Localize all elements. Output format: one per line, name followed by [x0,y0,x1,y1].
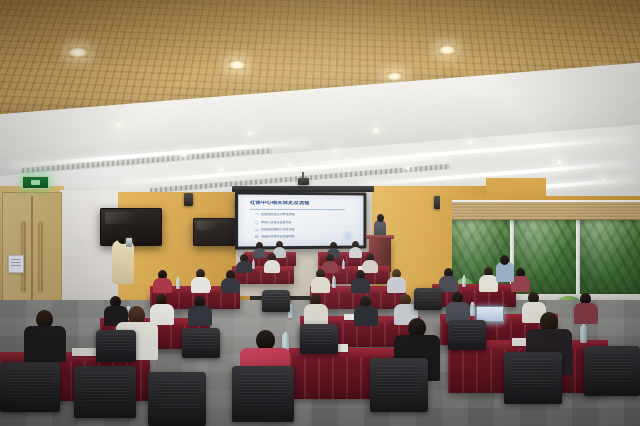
water-bottle [252,261,255,269]
presenter-head [377,214,384,222]
office-chair[interactable] [0,362,60,412]
water-bottle [470,304,475,316]
conference-room-photo: 社保中心相关规定及流程 一、社会保险登记与参保办理 二、参保人员信息变更申报 三… [0,0,640,426]
water-bottle [580,326,587,343]
office-chair[interactable] [262,290,290,312]
slide-divider [250,209,345,210]
office-chair[interactable] [414,288,442,310]
office-chair[interactable] [96,330,136,362]
attendee-body [24,326,66,362]
attendee-body [496,262,514,282]
ceiling-downlight [556,160,563,165]
door-seam [31,196,33,312]
attendee-body [387,277,406,293]
wall-tv-center [193,218,237,246]
attendee-body [311,277,330,293]
office-chair[interactable] [300,324,338,354]
projection-screen: 社保中心相关规定及流程 一、社会保险登记与参保办理 二、参保人员信息变更申报 三… [235,191,366,249]
attendee-body [362,260,378,273]
attendee-body [354,306,378,326]
door-handle[interactable] [39,222,42,292]
ceiling-downlight [68,47,88,58]
ceiling-downlight [372,128,380,133]
water-bottle [342,261,345,269]
office-chair[interactable] [74,366,136,418]
office-chair[interactable] [448,320,486,350]
attendee-body [236,261,252,273]
attendee-body [191,277,210,293]
attendee-body [153,278,172,293]
exit-sign-icon [22,176,49,189]
office-chair[interactable] [232,366,294,422]
slide-title: 社保中心相关规定及流程 [250,201,354,207]
roller-blind[interactable] [452,202,640,220]
presentation-slide: 社保中心相关规定及流程 一、社会保险登记与参保办理 二、参保人员信息变更申报 三… [238,194,363,246]
attendee-body [221,278,240,293]
ceiling-downlight [438,45,456,55]
attendee-head [500,255,509,265]
office-chair[interactable] [182,328,220,358]
door-notice-card [8,255,24,273]
attendee-body [188,306,212,326]
slide-bullet: 二、参保人员信息变更申报 [255,221,354,224]
ceiling-downlight [286,163,293,167]
office-chair[interactable] [148,372,206,426]
ceiling-downlight [180,152,188,157]
attendee-body [304,304,328,325]
ceiling-downlight [246,131,254,136]
office-chair[interactable] [584,346,640,396]
attendee-body [349,247,362,258]
ceiling-downlight [114,122,123,128]
ceiling-downlight [218,167,225,172]
ceiling-downlight [332,148,339,153]
attendee-body [574,303,598,324]
attendee-body [439,276,458,292]
ceiling-downlight [404,166,411,170]
wall-speaker [184,193,193,206]
ceiling-downlight [228,60,246,70]
ceiling-downlight [600,178,607,182]
water-bottle [462,277,466,287]
ceiling-downlight [386,72,403,81]
attendee-body [264,260,280,273]
office-chair[interactable] [370,358,428,412]
phone-camera-icon [126,238,132,247]
attendee-body [351,278,370,293]
attendee-body [253,248,266,258]
water-bottle [176,279,180,289]
ceiling-downlight [466,140,474,145]
ceiling-projector [298,178,309,185]
water-bottle [332,278,336,288]
slide-bullet: 三、社保费用缴纳与对账流程 [255,228,354,231]
slide-bullet: 一、社会保险登记与参保办理 [255,213,354,216]
office-chair[interactable] [504,352,562,404]
slide-bullet: 四、待遇申领材料及办理时限 [255,235,354,238]
